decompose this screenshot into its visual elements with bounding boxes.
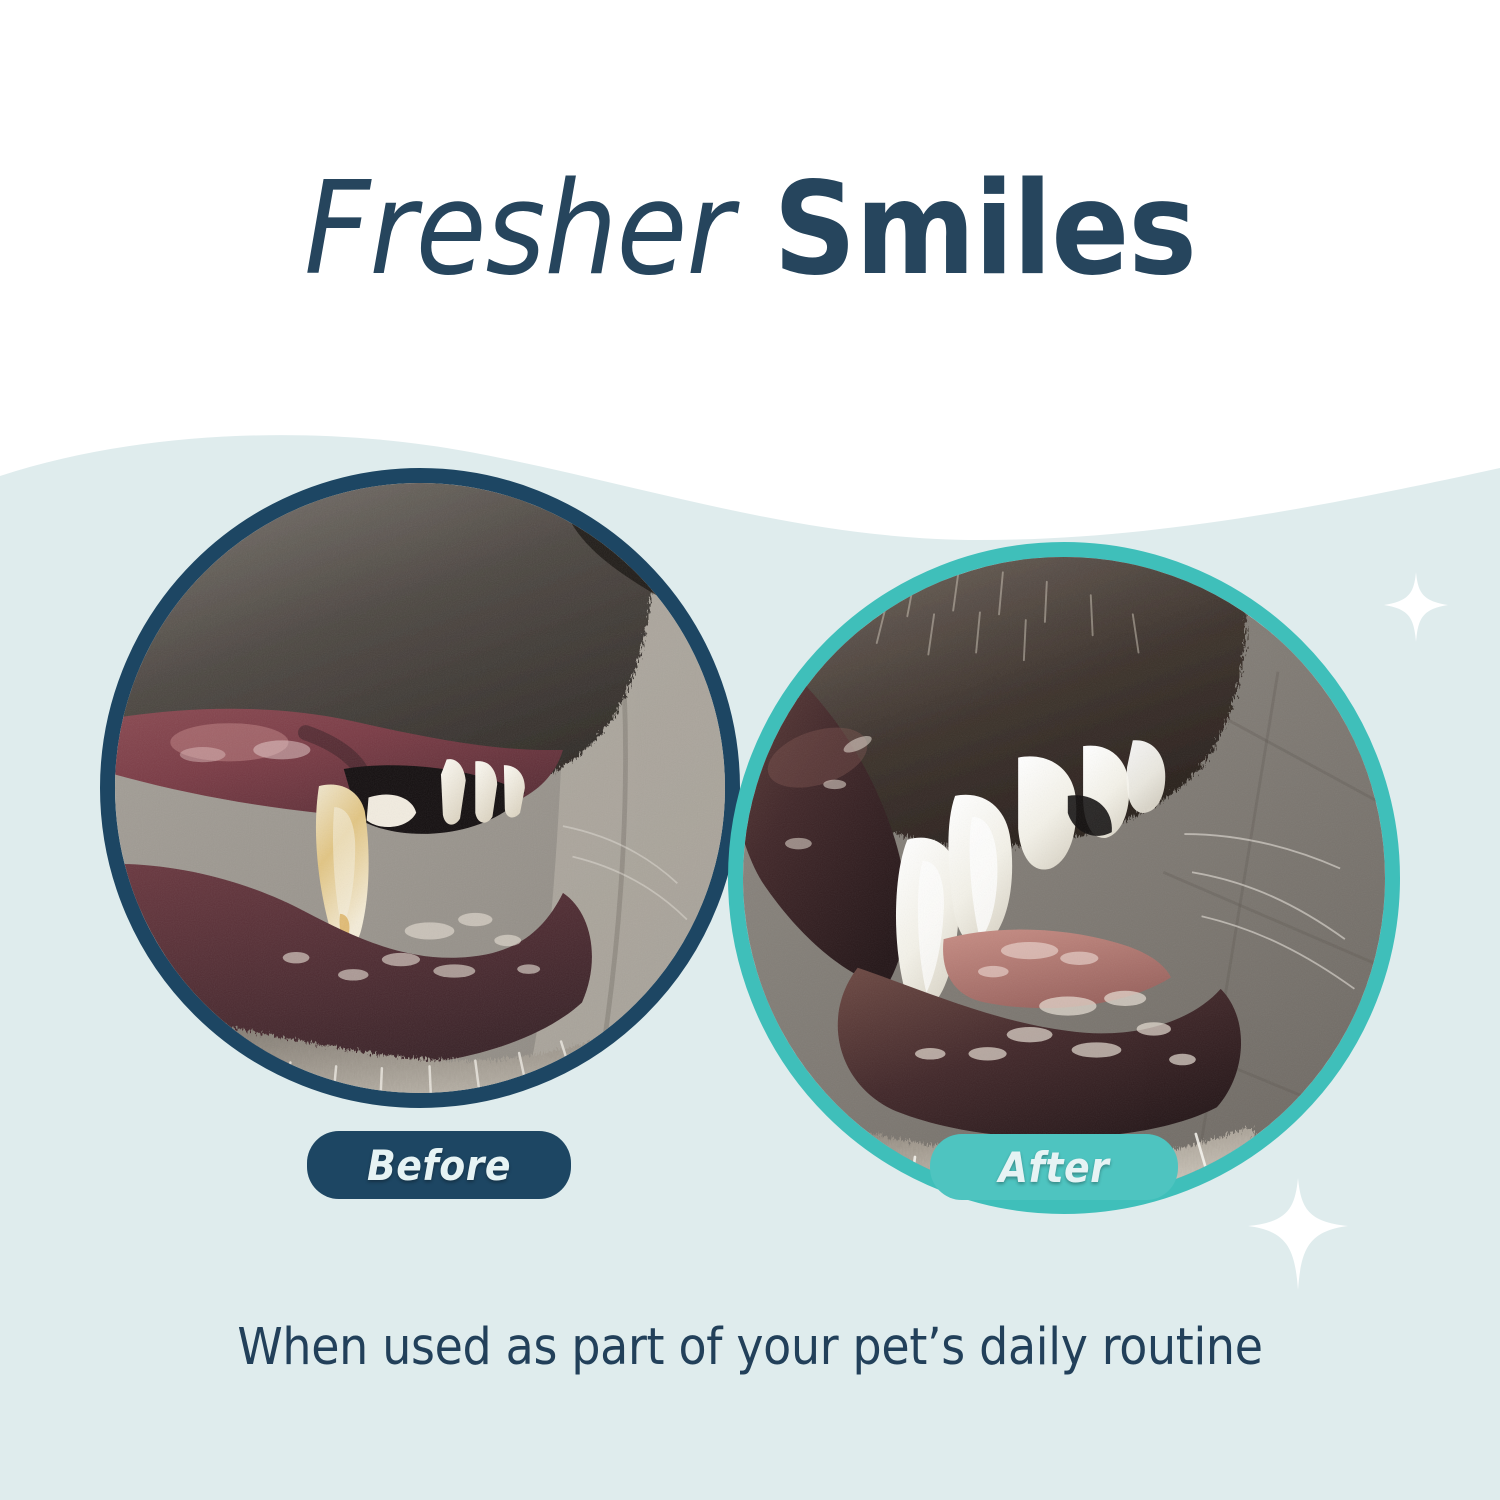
after-photo: [743, 557, 1385, 1199]
headline-word-fresher: Fresher: [304, 155, 733, 304]
after-photo-circle: [728, 542, 1400, 1214]
badge-before: Before: [307, 1131, 571, 1199]
caption-text: When used as part of your pet’s daily ro…: [0, 1318, 1500, 1377]
before-photo: [115, 483, 725, 1093]
headline-word-smiles: Smiles: [773, 155, 1196, 304]
badge-after: After: [930, 1134, 1178, 1200]
page-title: Fresher Smiles: [0, 166, 1500, 294]
badge-before-label: Before: [367, 1141, 511, 1190]
before-photo-circle: [100, 468, 740, 1108]
badge-after-label: After: [999, 1143, 1110, 1192]
sparkle-icon: [1248, 1178, 1348, 1290]
sparkle-icon: [1384, 572, 1448, 642]
